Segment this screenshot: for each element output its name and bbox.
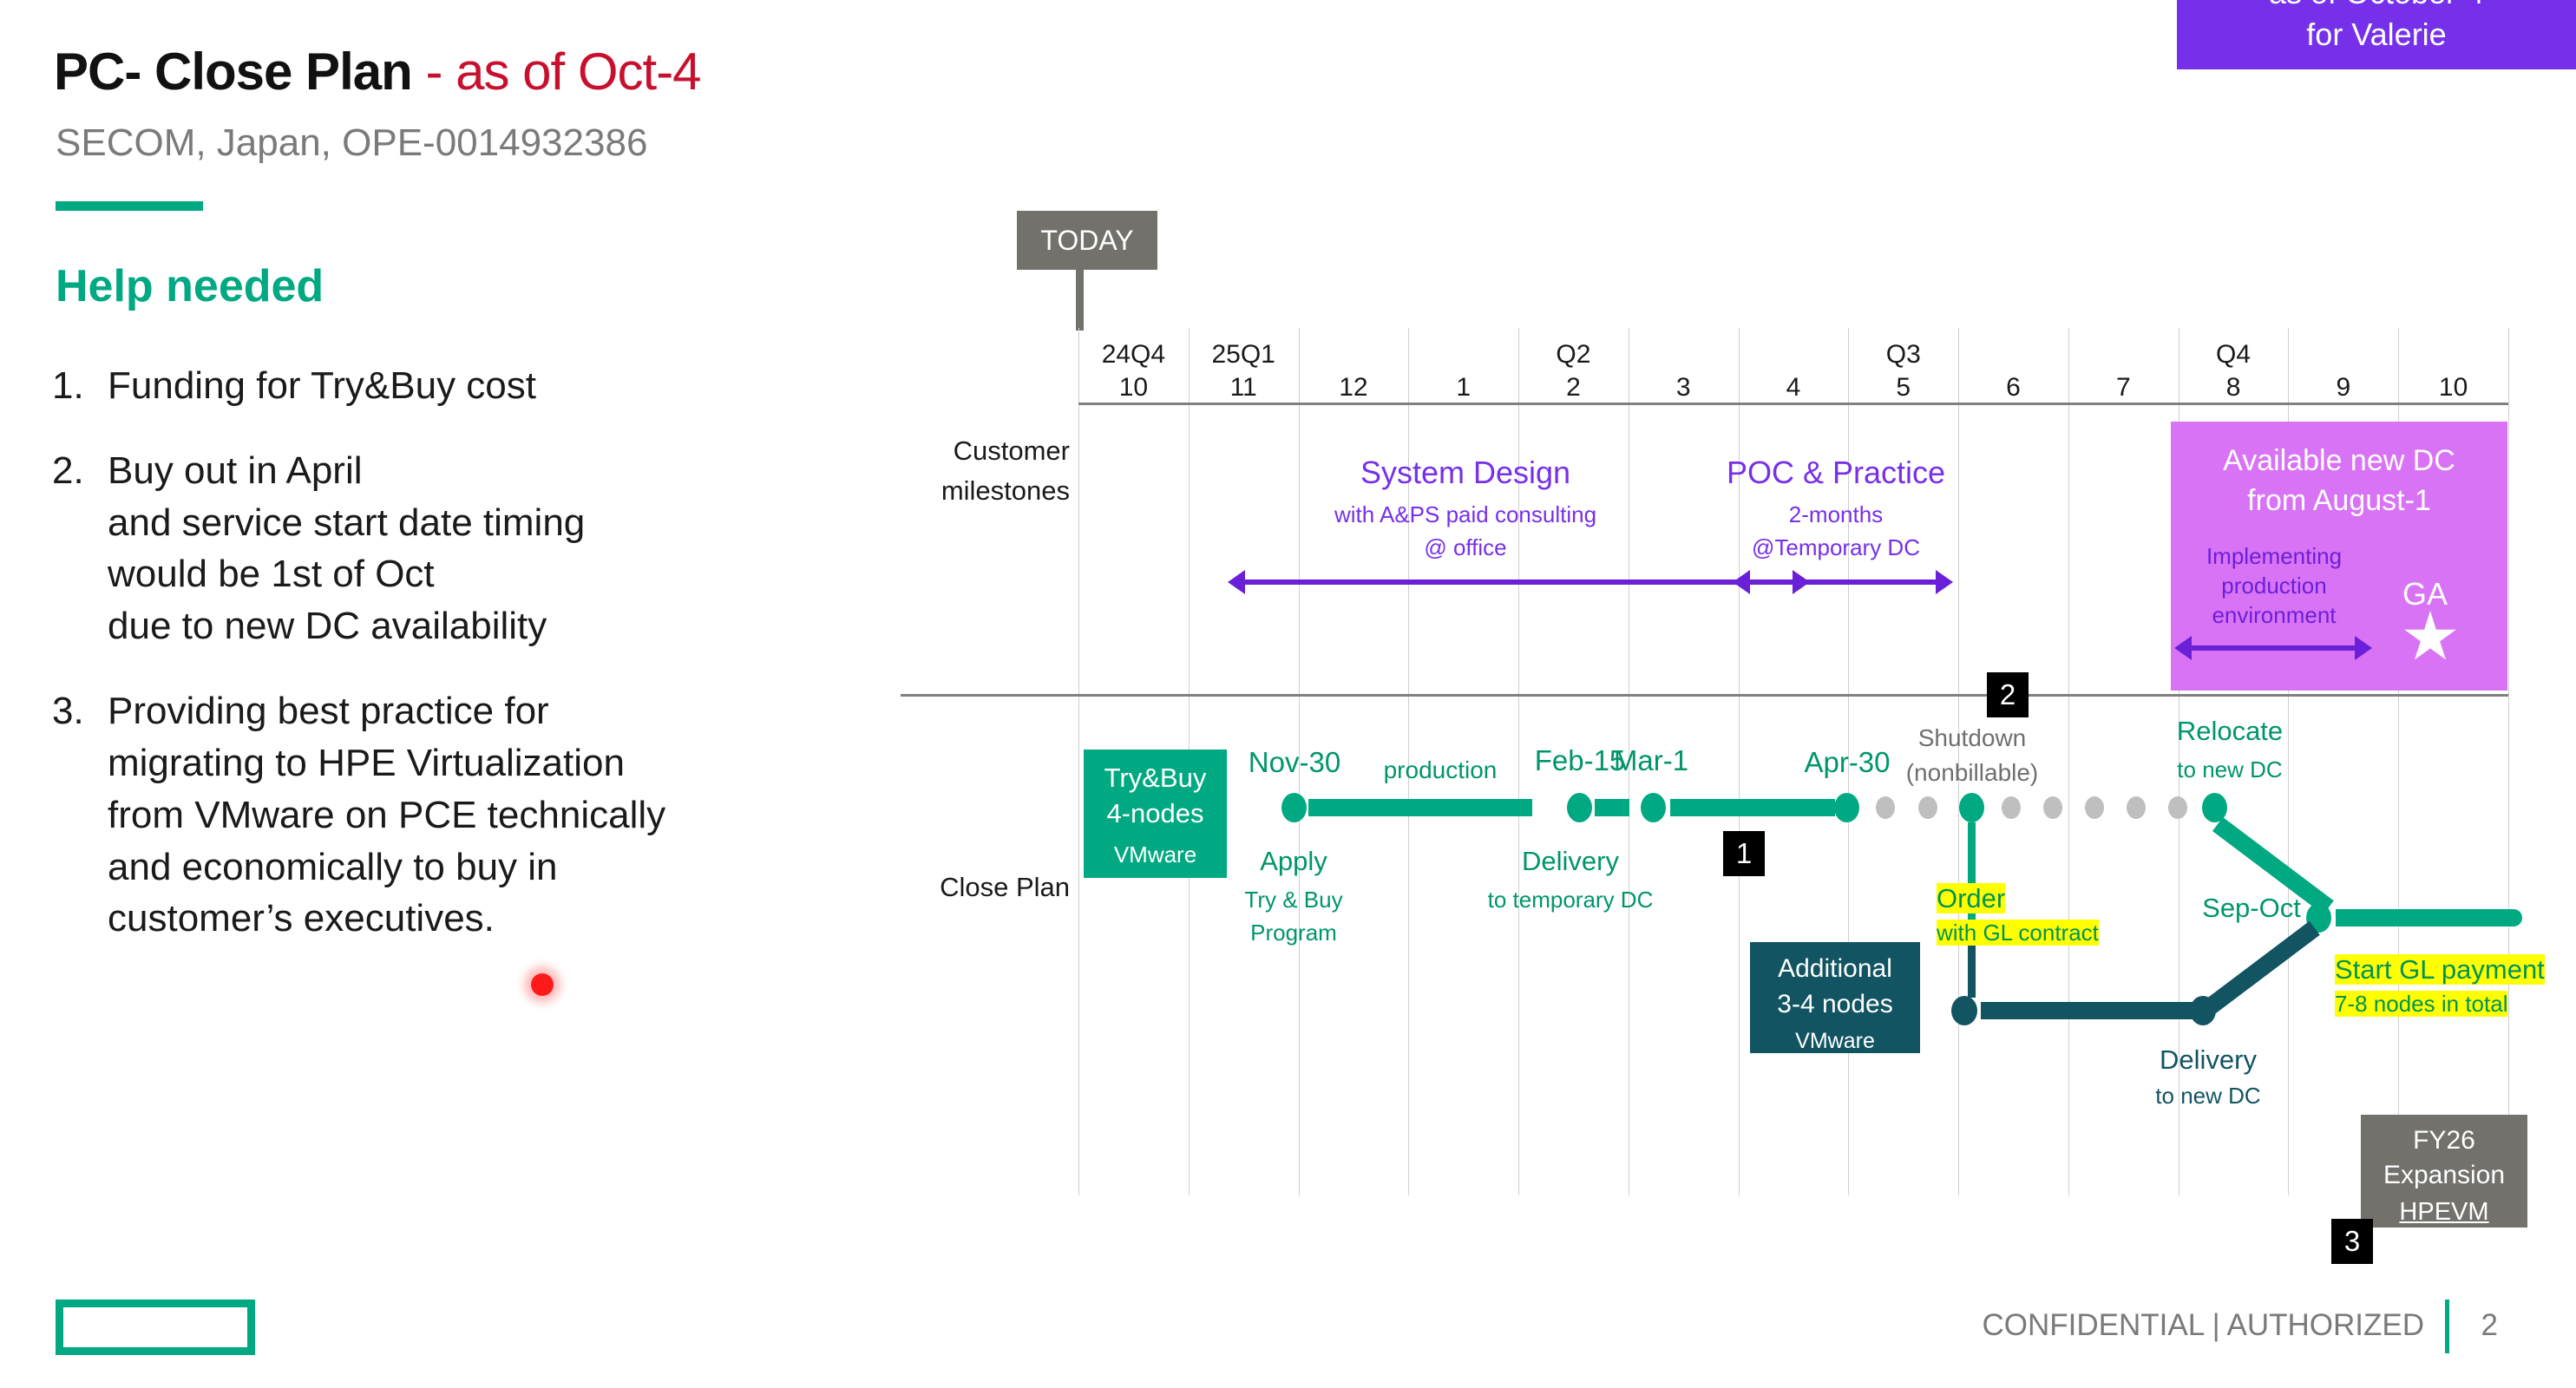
gray-dot [2043, 796, 2062, 819]
row-label-customer-milestones: Customer milestones [901, 431, 1070, 511]
available-new-dc-title: Available new DC from August-1 [2171, 441, 2507, 520]
axis-quarter-label: Q4 [2179, 340, 2289, 370]
row-label-close-plan: Close Plan [901, 872, 1070, 903]
footer-divider [2445, 1300, 2449, 1353]
arrow-implementing-production [2190, 645, 2356, 651]
page-subtitle: SECOM, Japan, OPE-0014932386 [56, 121, 647, 165]
today-marker-stem [1076, 270, 1084, 331]
page-title-asof: as of Oct-4 [456, 43, 700, 101]
today-label: TODAY [1040, 225, 1133, 257]
axis-month-label: 4 [1739, 373, 1849, 403]
help-needed-list: 1. Funding for Try&Buy cost 2. Buy out i… [52, 360, 885, 978]
axis-top-rule [1078, 403, 2508, 405]
start-gl-payment-line2: 7-8 nodes in total [2335, 991, 2507, 1018]
row-divider-rule [901, 694, 2508, 697]
list-item-number: 2. [52, 445, 108, 652]
list-item-text: Providing best practice for migrating to… [108, 685, 665, 945]
milestone-title-system-design: System Design [1301, 455, 1630, 491]
ga-label: GA [2369, 576, 2481, 612]
hpe-logo [56, 1300, 255, 1355]
relocate-title: Relocate [2130, 716, 2330, 747]
milestone-sub-delivery-temp: to temporary DC [1432, 883, 1709, 916]
green-dot-feb15 [1567, 793, 1592, 822]
relocate-sub: to new DC [2130, 753, 2330, 786]
date-label-sepoct: Sep-Oct [2173, 893, 2330, 924]
help-needed-heading: Help needed [56, 260, 324, 312]
grid-line [2508, 328, 2509, 1195]
arrow-system-design [1243, 579, 1794, 585]
list-item: 3. Providing best practice for migrating… [52, 685, 885, 945]
axis-quarter-label: 25Q1 [1189, 340, 1299, 370]
teal-dot-order [1951, 996, 1977, 1025]
axis-month-label: 11 [1189, 373, 1299, 403]
list-item-text: Buy out in April and service start date … [108, 445, 585, 652]
top-note-line2: for Valerie [2186, 14, 2567, 56]
title-underline-rule [56, 201, 203, 211]
list-item-number: 1. [52, 360, 108, 412]
row-label-line2: milestones [901, 471, 1070, 511]
footer-page-number: 2 [2481, 1308, 2498, 1343]
green-bar-nov30-feb15 [1308, 799, 1532, 816]
milestone-sub-apply: Try & Buy Program [1211, 883, 1376, 949]
axis-quarter-label: 24Q4 [1078, 340, 1189, 370]
gray-dot [1918, 796, 1937, 819]
page-title: PC- Close Plan - as of Oct-4 [54, 42, 701, 101]
order-highlight-line1: Order [1937, 883, 2005, 914]
green-dot-nov30 [1281, 793, 1307, 822]
available-new-dc-sub: Implementing production environment [2183, 541, 2365, 630]
axis-month-label: 9 [2288, 373, 2398, 403]
gray-dot [2002, 796, 2021, 819]
teal-bar-order-delivery [1981, 1002, 2198, 1019]
milestone-title-delivery-temp: Delivery [1458, 846, 1683, 877]
green-dot-mar1 [1641, 793, 1666, 822]
milestone-title-poc-practice: POC & Practice [1688, 455, 1983, 491]
list-item-number: 3. [52, 685, 108, 945]
shutdown-sub: (nonbillable) [1868, 757, 2076, 789]
axis-month-label: 10 [2398, 373, 2508, 403]
axis-month-label: 6 [1958, 373, 2068, 403]
grid-line [1078, 328, 1079, 1195]
milestone-sub-poc-practice: 2-months @Temporary DC [1688, 498, 1983, 564]
start-gl-payment-line1: Start GL payment [2335, 954, 2545, 985]
trybuy-line2: 4-nodes [1084, 795, 1227, 831]
fy26-line2: Expansion [2361, 1158, 2527, 1193]
star-icon [2403, 611, 2457, 665]
fy26-line3: HPEVM [2361, 1193, 2527, 1227]
delivery-newdc-title: Delivery [2117, 1044, 2299, 1076]
additional-nodes-box: Additional 3-4 nodes VMware [1750, 942, 1920, 1053]
green-bar-feb15-mar1 [1595, 799, 1629, 816]
trybuy-4nodes-box: Try&Buy 4-nodes VMware [1084, 750, 1227, 878]
top-note-line1: as of October-4 [2186, 0, 2567, 14]
additional-line3: VMware [1750, 1022, 1920, 1054]
fy26-line1: FY26 [2361, 1115, 2527, 1158]
page-title-main: PC- Close Plan [54, 43, 412, 101]
axis-month-label: 2 [1518, 373, 1629, 403]
delivery-newdc-sub: to new DC [2117, 1083, 2299, 1110]
axis-quarter-label: Q2 [1518, 340, 1629, 370]
order-highlight-line2: with GL contract [1937, 920, 2099, 946]
as-of-date-callout: as of October-4 for Valerie [2177, 0, 2576, 69]
axis-month-label: 7 [2068, 373, 2179, 403]
badge-1: 1 [1723, 831, 1765, 876]
list-item: 2. Buy out in April and service start da… [52, 445, 885, 652]
today-marker-flag: TODAY [1017, 211, 1157, 270]
trybuy-line1: Try&Buy [1084, 750, 1227, 795]
milestone-sub-system-design: with A&PS paid consulting @ office [1249, 498, 1682, 564]
teal-connector-vertical [1968, 946, 1976, 998]
green-bar-sepoct-end [2336, 909, 2522, 926]
axis-month-label: 5 [1848, 373, 1958, 403]
cursor-click-dot-icon [531, 973, 554, 996]
date-label-mar1: Mar-1 [1582, 744, 1721, 777]
additional-line2: 3-4 nodes [1750, 986, 1920, 1022]
axis-month-label: 3 [1629, 373, 1739, 403]
green-dot-apr30 [1834, 793, 1859, 822]
available-new-dc-box: Available new DC from August-1 Implement… [2171, 422, 2507, 691]
axis-month-label: 10 [1078, 373, 1189, 403]
arrow-poc-practice [1748, 579, 1937, 585]
badge-3: 3 [2331, 1219, 2373, 1264]
fy26-expansion-box: FY26 Expansion HPEVM [2361, 1115, 2527, 1228]
axis-month-label: 1 [1408, 373, 1518, 403]
axis-month-label: 12 [1299, 373, 1409, 403]
trybuy-line3: VMware [1084, 831, 1227, 868]
page-title-dash: - [425, 43, 442, 101]
gray-dot [2168, 796, 2187, 819]
gray-dot [1876, 796, 1895, 819]
badge-2: 2 [1987, 672, 2029, 717]
footer-confidential-text: CONFIDENTIAL | AUTHORIZED [1983, 1308, 2425, 1343]
gray-dot [2085, 796, 2104, 819]
list-item: 1. Funding for Try&Buy cost [52, 360, 885, 412]
green-bar-mar1-apr30 [1670, 799, 1835, 816]
milestone-title-apply: Apply [1211, 846, 1376, 877]
additional-line1: Additional [1750, 942, 1920, 986]
gray-dot [2127, 796, 2146, 819]
axis-month-label: 8 [2179, 373, 2289, 403]
list-item-text: Funding for Try&Buy cost [108, 360, 536, 412]
axis-quarter-label: Q3 [1848, 340, 1958, 370]
row-label-line1: Customer [901, 431, 1070, 471]
green-dot-shutdown [1959, 793, 1984, 822]
shutdown-title: Shutdown [1868, 723, 2076, 754]
